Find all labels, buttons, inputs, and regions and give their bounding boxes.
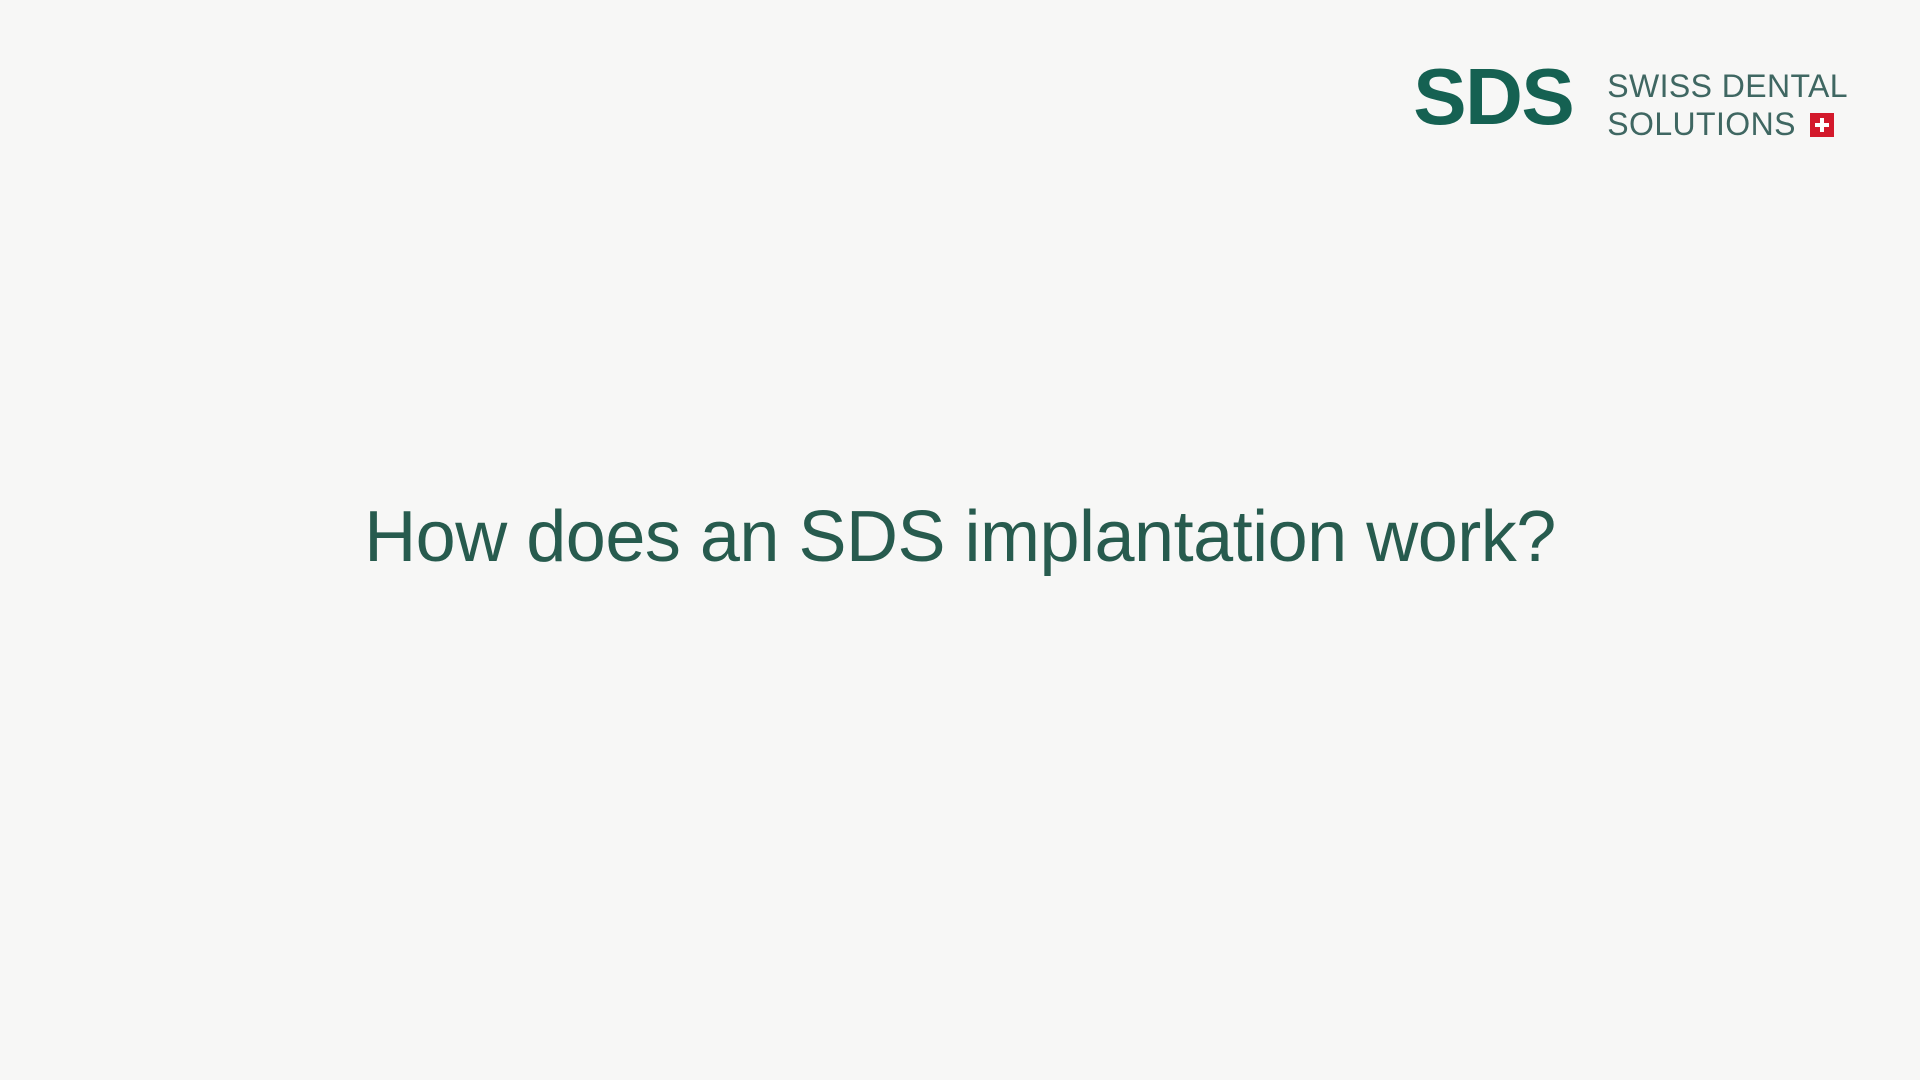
logo-tagline-text-1: SWISS DENTAL [1607,68,1848,106]
logo-tagline: SWISS DENTAL SOLUTIONS [1607,62,1848,144]
title-container: How does an SDS implantation work? [0,498,1920,577]
logo-tagline-line-2: SOLUTIONS [1607,106,1848,144]
sds-logo[interactable]: SDS SWISS DENTAL SOLUTIONS [1413,62,1848,144]
presentation-slide: SDS SWISS DENTAL SOLUTIONS How does an S… [0,0,1920,1080]
page-title: How does an SDS implantation work? [0,498,1920,577]
logo-tagline-line-1: SWISS DENTAL [1607,68,1848,106]
swiss-flag-icon [1810,113,1834,137]
logo-wordmark: SDS [1413,66,1573,128]
logo-tagline-text-2: SOLUTIONS [1607,106,1796,144]
